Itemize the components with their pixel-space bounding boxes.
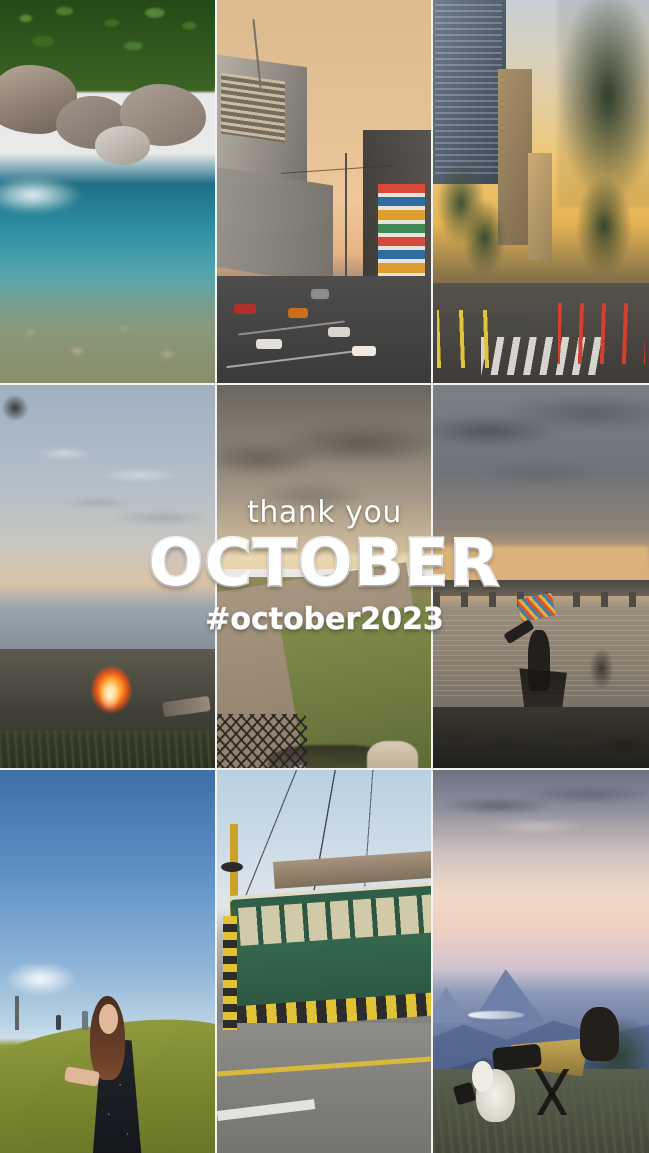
rock-shape xyxy=(95,126,151,164)
photo-bike-path xyxy=(217,385,431,768)
car xyxy=(311,289,329,299)
elevated-viaduct xyxy=(217,167,333,286)
photo-cell-mountain-dog[interactable] xyxy=(433,770,649,1153)
dog-head xyxy=(472,1061,494,1092)
person-silhouette xyxy=(580,1007,619,1061)
car xyxy=(328,327,350,337)
red-bollards xyxy=(558,303,644,364)
photo-mountain-dog xyxy=(433,770,649,1153)
legs xyxy=(492,1043,542,1071)
photo-cell-river[interactable] xyxy=(0,0,217,385)
platform-pavement xyxy=(217,1023,431,1153)
cloud xyxy=(4,962,77,996)
water-foam xyxy=(0,176,82,214)
cloud-layer xyxy=(433,778,649,847)
shore-rocks xyxy=(433,707,649,768)
photo-cell-bike-path[interactable] xyxy=(217,385,433,770)
skyscraper-windows xyxy=(435,4,502,176)
car xyxy=(234,304,256,314)
crossing-signal xyxy=(221,862,243,872)
palm-tree xyxy=(576,176,632,276)
chair-frame xyxy=(515,1069,588,1115)
distant-lake xyxy=(468,1011,524,1019)
photo-cell-hill-portrait[interactable] xyxy=(0,770,217,1153)
campfire-core xyxy=(99,680,121,711)
hand xyxy=(367,741,418,770)
car xyxy=(352,346,376,356)
photo-train xyxy=(217,770,431,1153)
photo-river xyxy=(0,0,215,383)
distant-tower xyxy=(15,996,19,1030)
tree-branch xyxy=(0,389,34,427)
riverbed-pebbles xyxy=(0,299,215,383)
photo-hill-portrait xyxy=(0,770,215,1153)
photo-cell-boulevard[interactable] xyxy=(433,0,649,385)
cloud-layer xyxy=(433,385,649,538)
photo-bonfire xyxy=(0,385,215,768)
photo-boulevard xyxy=(433,0,649,383)
twig xyxy=(584,638,619,699)
palm-tree xyxy=(463,199,506,276)
yellow-bollards xyxy=(437,310,502,367)
distant-person xyxy=(56,1015,61,1030)
photo-grid xyxy=(0,0,649,1153)
car xyxy=(256,339,282,349)
sunset-glow xyxy=(433,546,649,584)
striped-post xyxy=(223,916,237,1031)
collage-canvas: thank you OCTOBER #october2023 xyxy=(0,0,649,1153)
distant-person xyxy=(82,1011,88,1030)
foreground-grass xyxy=(0,730,215,768)
building-windows xyxy=(221,72,285,142)
storm-clouds xyxy=(217,400,433,546)
photo-city-street xyxy=(217,0,431,383)
skyscraper xyxy=(528,153,552,260)
car xyxy=(288,308,308,318)
photo-cell-bonfire[interactable] xyxy=(0,385,217,770)
photo-cell-train[interactable] xyxy=(217,770,433,1153)
photo-kite xyxy=(433,385,649,768)
sea xyxy=(0,607,215,653)
photo-cell-city-street[interactable] xyxy=(217,0,433,385)
photo-cell-kite[interactable] xyxy=(433,385,649,770)
cloud-layer xyxy=(0,423,215,576)
